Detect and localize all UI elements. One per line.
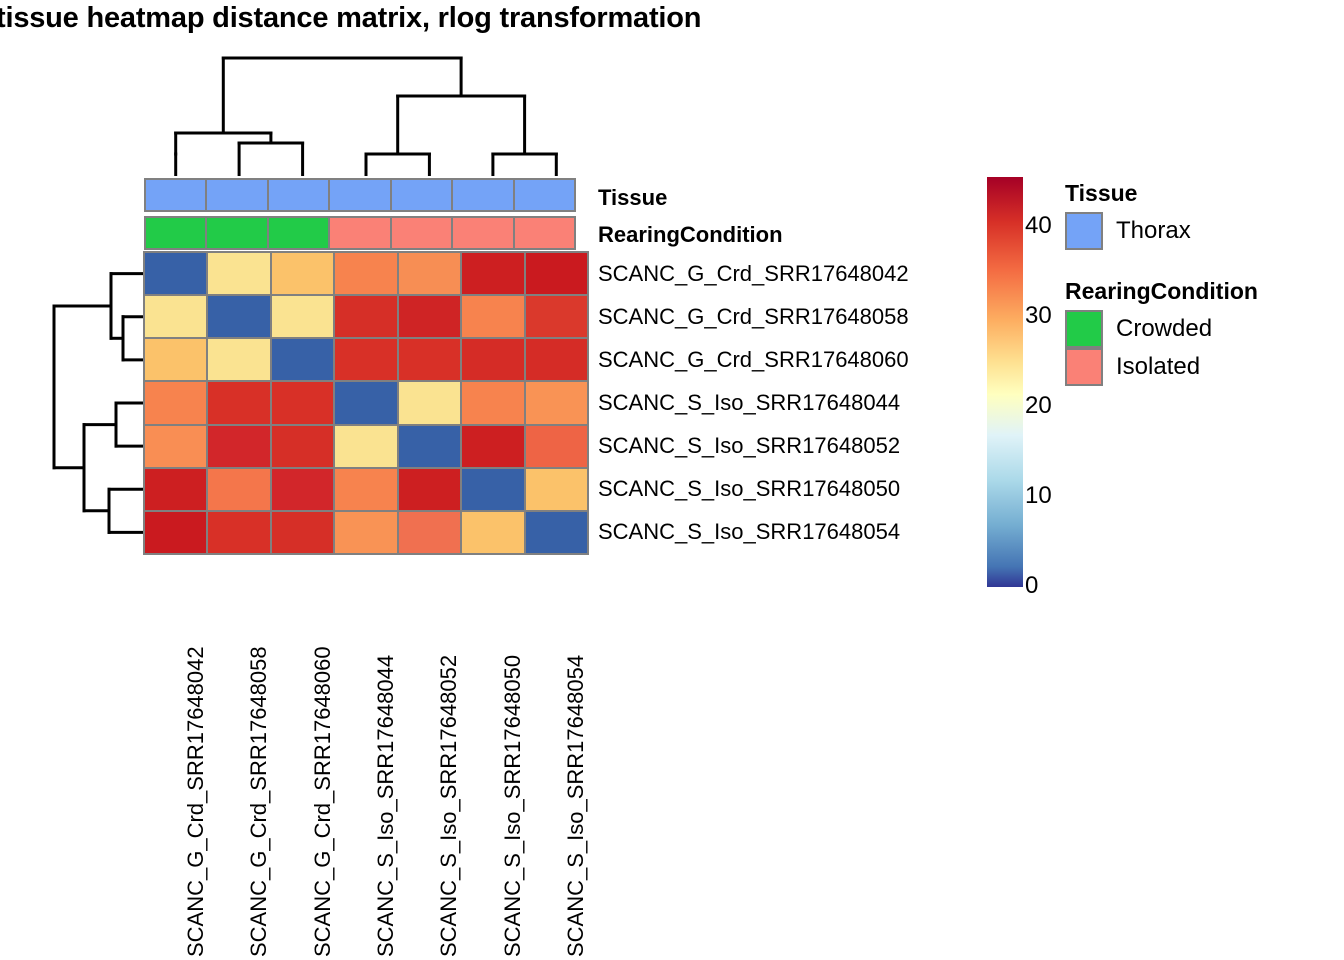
legend-label-crowded: Crowded [1116,315,1212,343]
heatmap-cell [333,251,398,296]
heatmap-cell [333,467,398,512]
legend-item-thorax[interactable]: Thorax [1065,212,1191,250]
heatmap-cell [524,510,589,555]
heatmap-cell [460,337,525,382]
heatmap-cell [524,294,589,339]
annotation-cell [451,178,514,212]
heatmap-cell [143,251,208,296]
heatmap-cell [270,380,335,425]
heatmap-cell [270,510,335,555]
annotation-label-tissue: Tissue [598,185,667,211]
heatmap-cell [333,380,398,425]
heatmap-cell [460,380,525,425]
heatmap-cell [143,424,208,469]
heatmap-cell [397,337,462,382]
row-label: SCANC_G_Crd_SRR17648060 [598,349,909,371]
column-label: SCANC_G_Crd_SRR17648060 [312,646,334,957]
annotation-row-rearingcondition [144,216,588,250]
heatmap-cell [333,510,398,555]
heatmap-cell [397,380,462,425]
annotation-cell [451,216,514,250]
heatmap-cell [397,251,462,296]
legend-swatch-thorax [1065,212,1103,250]
legend-swatch-isolated [1065,348,1103,386]
heatmap-cell [143,337,208,382]
annotation-cell [328,178,391,212]
heatmap-cell [270,467,335,512]
heatmap-cell [206,251,271,296]
heatmap-cell [460,467,525,512]
column-label: SCANC_S_Iso_SRR17648044 [375,655,397,957]
colorbar-tick-label: 10 [1025,482,1052,510]
heatmap-cell [206,294,271,339]
heatmap-cell [460,424,525,469]
annotation-row-tissue [144,178,588,212]
colorbar-tick-label: 20 [1025,392,1052,420]
annotation-cell [390,216,453,250]
column-label: SCANC_S_Iso_SRR17648052 [438,655,460,957]
heatmap-cell [143,467,208,512]
heatmap-cell [270,424,335,469]
heatmap-cell [333,424,398,469]
heatmap-cell [397,510,462,555]
heatmap-cell [143,510,208,555]
heatmap-figure: tissue heatmap distance matrix, rlog tra… [0,0,1344,960]
heatmap-cell [206,510,271,555]
heatmap-cell [333,337,398,382]
annotation-cell [144,216,207,250]
heatmap-cell [460,294,525,339]
heatmap-cell [143,294,208,339]
row-label: SCANC_G_Crd_SRR17648042 [598,263,909,285]
legend-title-tissue: Tissue [1065,180,1137,207]
annotation-label-rearingcondition: RearingCondition [598,222,783,248]
annotation-cell [513,178,576,212]
annotation-cell [267,216,330,250]
heatmap-cell [397,467,462,512]
legend-item-crowded[interactable]: Crowded [1065,310,1212,348]
column-label: SCANC_S_Iso_SRR17648050 [502,655,524,957]
heatmap-cell [270,251,335,296]
heatmap-cell [206,424,271,469]
column-label: SCANC_S_Iso_SRR17648054 [565,655,587,957]
annotation-cell [328,216,391,250]
column-label: SCANC_G_Crd_SRR17648058 [248,646,270,957]
heatmap-cell [460,510,525,555]
row-label: SCANC_G_Crd_SRR17648058 [598,306,909,328]
colorbar-tick-label: 30 [1025,302,1052,330]
colorbar-tick-label: 0 [1025,572,1038,600]
heatmap-cell [524,424,589,469]
heatmap-cell [333,294,398,339]
heatmap-cell [524,251,589,296]
annotation-cell [390,178,453,212]
row-label: SCANC_S_Iso_SRR17648052 [598,435,900,457]
column-label: SCANC_G_Crd_SRR17648042 [185,646,207,957]
heatmap-cell [206,380,271,425]
legend-item-isolated[interactable]: Isolated [1065,348,1200,386]
heatmap-matrix [144,252,588,554]
heatmap-cell [206,467,271,512]
heatmap-cell [143,380,208,425]
heatmap-cell [460,251,525,296]
heatmap-cell [206,337,271,382]
row-dendrogram [6,252,144,554]
colorbar-tick-label: 40 [1025,212,1052,240]
annotation-cell [144,178,207,212]
legend-title-rearingcondition: RearingCondition [1065,278,1258,305]
row-label: SCANC_S_Iso_SRR17648044 [598,392,900,414]
heatmap-cell [524,380,589,425]
row-label: SCANC_S_Iso_SRR17648050 [598,478,900,500]
heatmap-cell [397,424,462,469]
row-label: SCANC_S_Iso_SRR17648054 [598,521,900,543]
annotation-cell [205,216,268,250]
heatmap-cell [397,294,462,339]
heatmap-cell [270,337,335,382]
legend-label-isolated: Isolated [1116,353,1200,381]
page-title: tissue heatmap distance matrix, rlog tra… [0,2,701,35]
legend-label-thorax: Thorax [1116,217,1191,245]
legend-swatch-crowded [1065,310,1103,348]
heatmap-cell [524,337,589,382]
annotation-cell [267,178,330,212]
annotation-cell [205,178,268,212]
annotation-cell [513,216,576,250]
colorbar [987,177,1023,587]
heatmap-cell [524,467,589,512]
column-dendrogram [144,45,588,176]
heatmap-cell [270,294,335,339]
